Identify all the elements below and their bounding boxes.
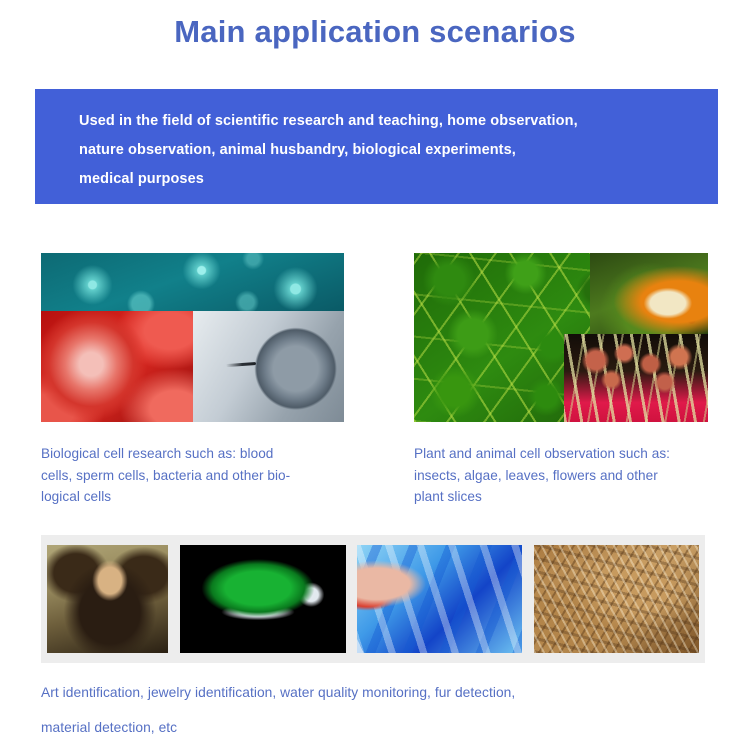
water-testing-artwork (357, 545, 522, 653)
intro-banner-line-3: medical purposes (79, 165, 718, 194)
animal-fur-macro-thumbnail (534, 545, 699, 653)
mona-lisa-painting-thumbnail (47, 545, 168, 653)
intro-banner: Used in the field of scientific research… (35, 89, 718, 204)
jade-diamond-ring-thumbnail (180, 545, 346, 653)
mona-lisa-artwork (47, 545, 168, 653)
intro-banner-line-2: nature observation, animal husbandry, bi… (79, 136, 718, 165)
caption-line: logical cells (41, 486, 341, 508)
caption-line: insects, algae, leaves, flowers and othe… (414, 465, 714, 487)
biological-cells-composite-image (41, 253, 344, 422)
jade-ring-artwork (180, 545, 346, 653)
plant-animal-cells-composite-image (414, 253, 708, 422)
caption-line: Biological cell research such as: blood (41, 443, 341, 465)
scenario-caption-plant: Plant and animal cell observation such a… (414, 443, 714, 508)
bottom-caption-line-1: Art identification, jewelry identificati… (41, 675, 721, 710)
thumbnail-row (41, 545, 705, 653)
caption-line: plant slices (414, 486, 714, 508)
caption-line: Plant and animal cell observation such a… (414, 443, 714, 465)
bacteria-microscopy-image (41, 253, 344, 311)
scenario-card-plant: Plant and animal cell observation such a… (414, 253, 708, 508)
page-title: Main application scenarios (0, 14, 750, 50)
water-quality-testing-thumbnail (357, 545, 522, 653)
caption-line: cells, sperm cells, bacteria and other b… (41, 465, 341, 487)
bottom-caption-line-2: material detection, etc (41, 710, 721, 745)
intro-banner-line-1: Used in the field of scientific research… (79, 107, 718, 136)
red-blood-cell-image (41, 311, 193, 422)
scenario-caption-biological: Biological cell research such as: blood … (41, 443, 341, 508)
sperm-egg-cell-image (193, 311, 345, 422)
fur-macro-artwork (534, 545, 699, 653)
bottom-caption: Art identification, jewelry identificati… (41, 675, 721, 745)
flower-stamens-image (564, 334, 708, 422)
spotted-beetle-image (590, 253, 708, 334)
bottom-thumbnail-panel (41, 535, 705, 663)
scenario-card-biological: Biological cell research such as: blood … (41, 253, 344, 508)
